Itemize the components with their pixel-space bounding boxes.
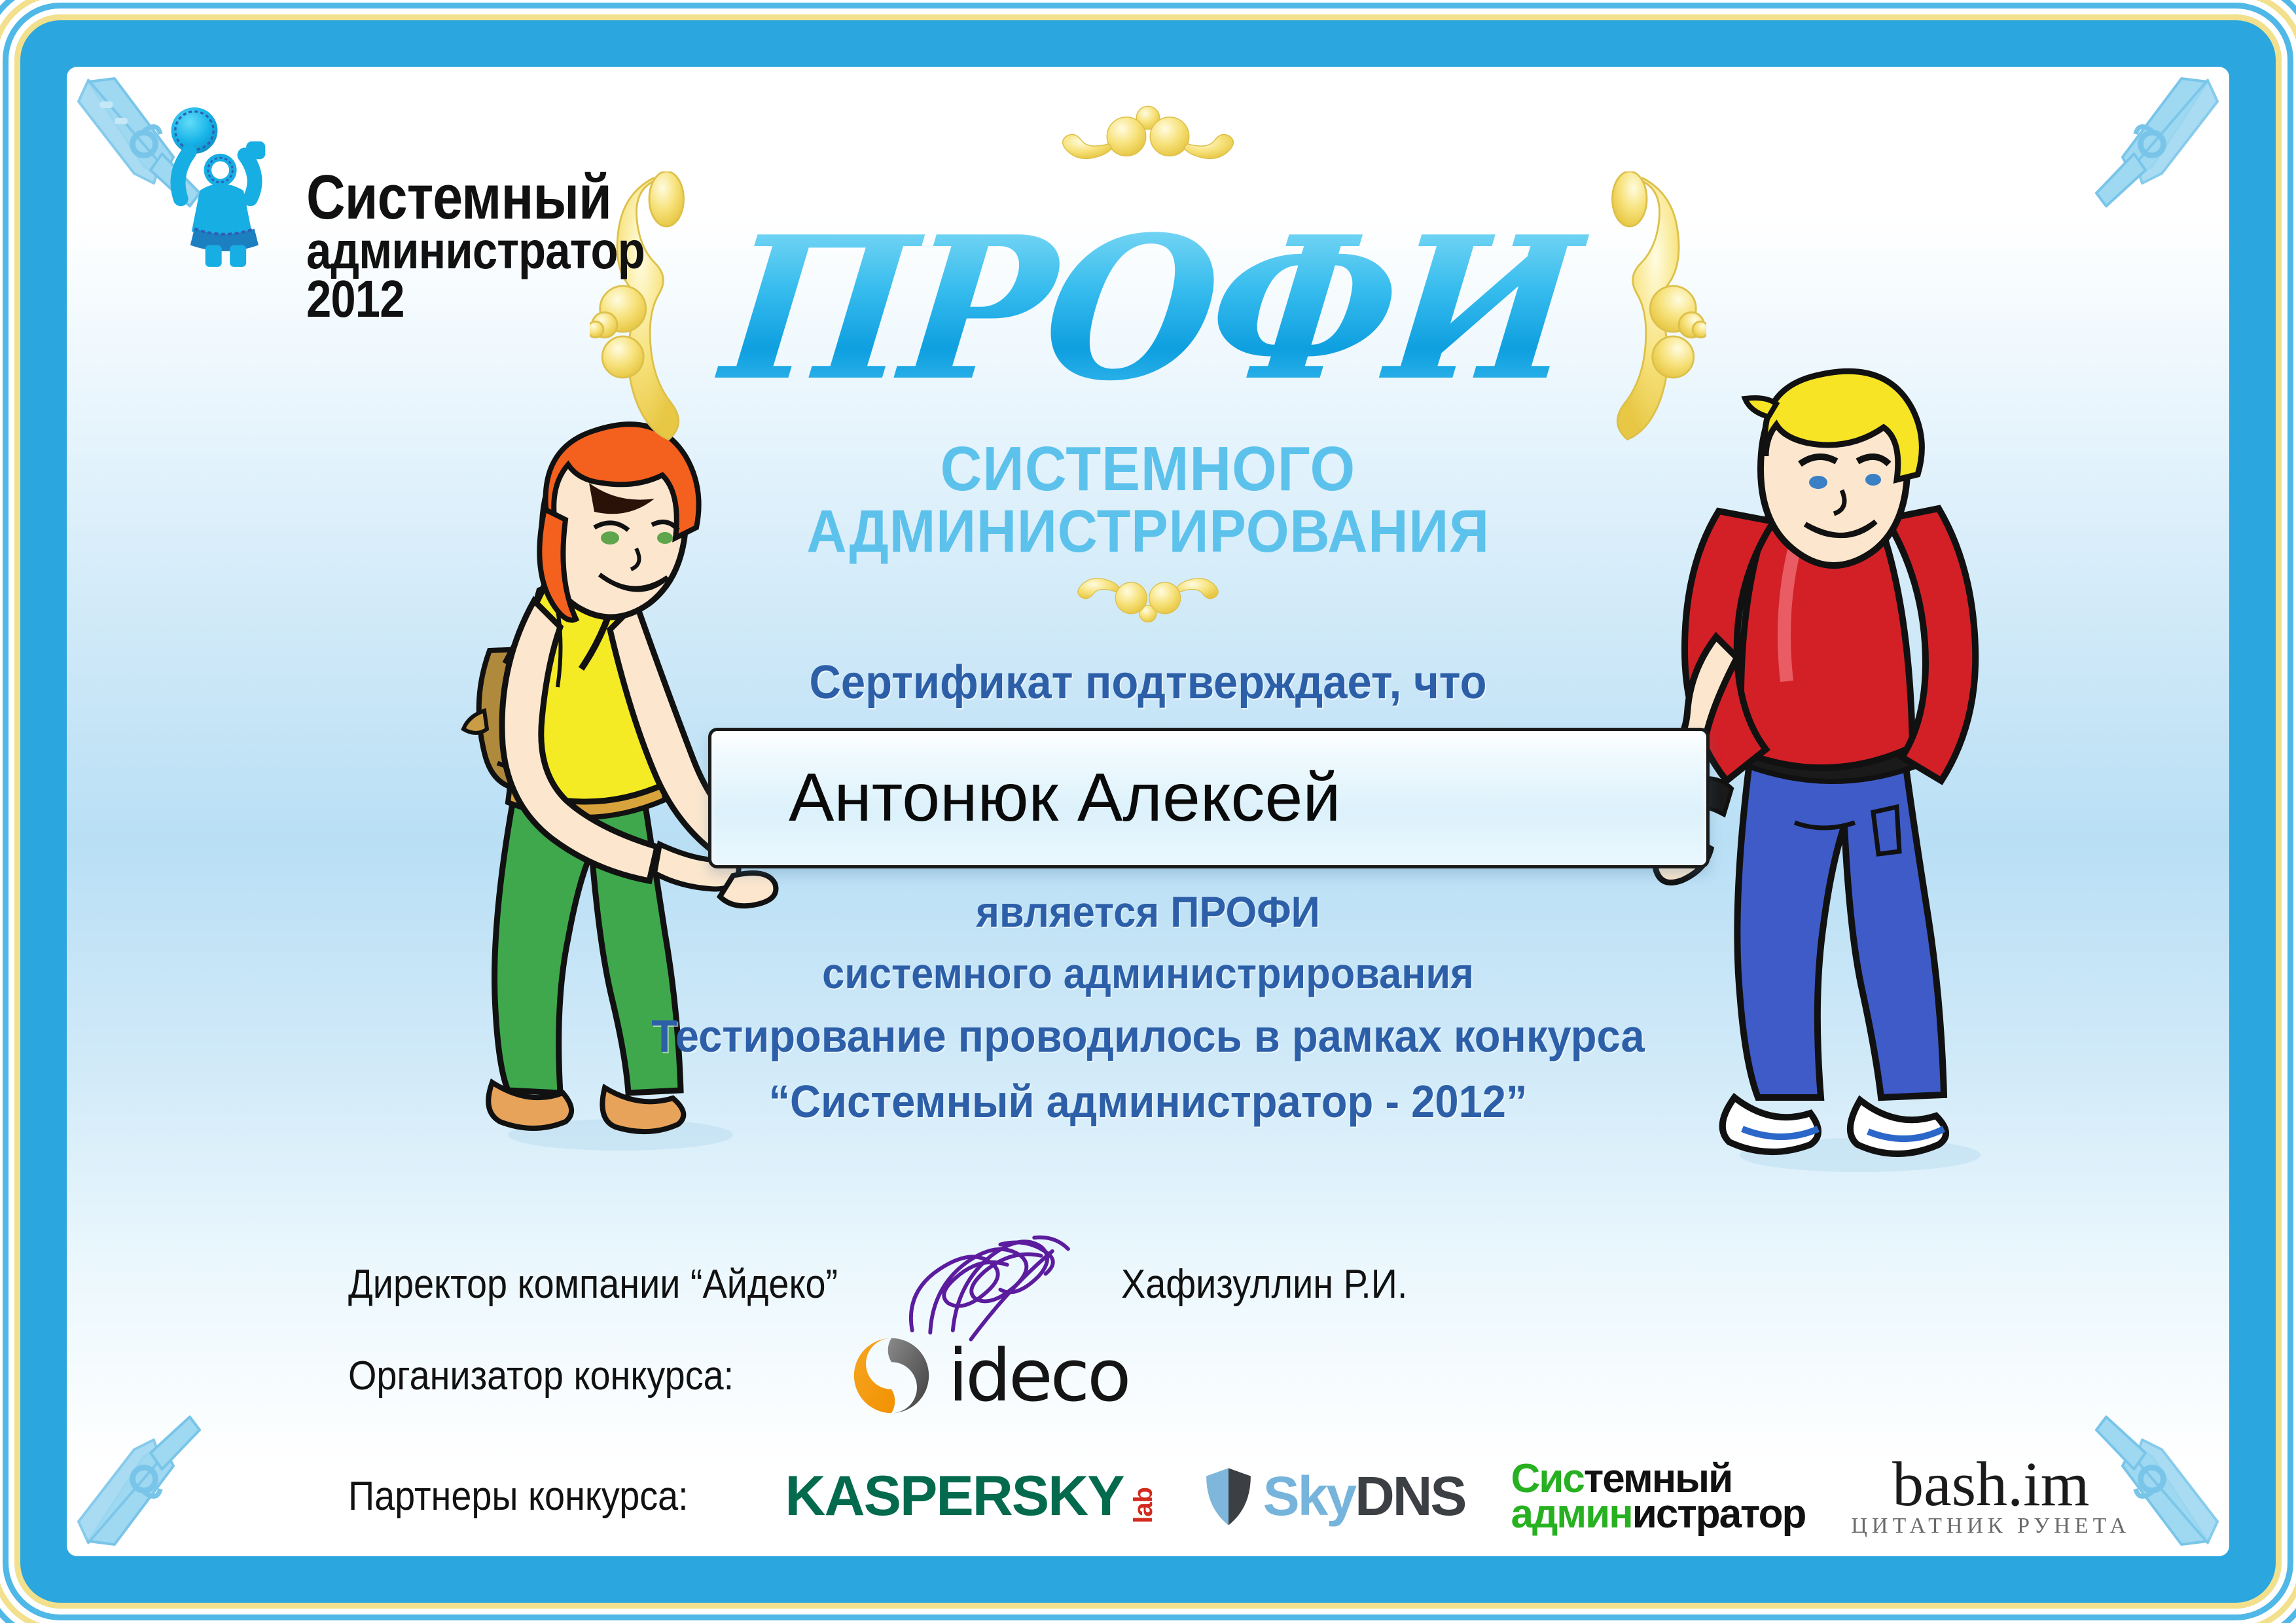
sysadmin-mascot-icon [158, 106, 296, 270]
sysadmin-partner-row2-black: истратор [1632, 1491, 1806, 1537]
sysadmin-partner-icon: Системный администратор [1511, 1461, 1805, 1531]
sysadmin-brand-logo: Системный администратор 2012 [158, 106, 700, 323]
signature-row: Директор компании “Айдеко” Хафизуллин Р.… [348, 1222, 1439, 1346]
golden-scroll-right-icon [1592, 171, 1706, 446]
bashim-logo-icon: bash.im ЦИТАТНИК РУНЕТА [1851, 1454, 2130, 1539]
certificate-outer-frame: Системный администратор 2012 [0, 0, 2296, 1623]
partner-logos: KASPERSKY lab SkyDNS Системный [785, 1454, 2130, 1539]
organizer-row: Организатор конкурса: ideco [348, 1333, 1128, 1418]
golden-flourish-icon [1040, 103, 1256, 175]
certificate-body-text: является ПРОФИ системного администрирова… [143, 882, 2154, 1134]
partners-label: Партнеры конкурса: [348, 1473, 689, 1520]
ideco-wordmark: ideco [948, 1334, 1129, 1418]
bashim-wordmark: bash.im [1851, 1454, 2130, 1514]
certificate-body: Системный администратор 2012 [67, 67, 2229, 1556]
sysadmin-partner-row2: администратор [1511, 1497, 1805, 1531]
skydns-sky-text: Sky [1263, 1465, 1355, 1527]
recipient-name: Антонюк Алексей [711, 759, 1340, 837]
body-line-1: является ПРОФИ [143, 882, 2154, 943]
body-line-2: системного администрирования [143, 943, 2154, 1005]
recipient-name-panel: Антонюк Алексей [708, 728, 1710, 868]
brand-logo-line1: Системный [306, 169, 645, 226]
body-line-3: Тестирование проводилось в рамках конкур… [143, 1004, 2154, 1069]
kaspersky-lab-suffix: lab [1129, 1488, 1158, 1524]
organizer-label: Организатор конкурса: [348, 1353, 734, 1399]
ideco-logo: ideco [849, 1333, 1129, 1418]
golden-flourish-icon [1056, 567, 1240, 627]
pliers-ornament-icon [72, 1387, 236, 1551]
sysadmin-partner-row2-green: админ [1511, 1491, 1632, 1537]
signature-title: Директор компании “Айдеко” [348, 1261, 838, 1308]
ideco-ring-icon [849, 1333, 934, 1418]
brand-logo-line2: администратор [306, 226, 645, 275]
body-line-4: “Системный администратор - 2012” [143, 1069, 2154, 1134]
bashim-tagline: ЦИТАТНИК РУНЕТА [1851, 1514, 2130, 1539]
kaspersky-logo-icon: KASPERSKY lab [785, 1464, 1158, 1529]
profi-title: ПРОФИ [694, 219, 1601, 399]
certificate-statement: Сертификат подтверждает, что [143, 656, 2154, 709]
partners-row: Партнеры конкурса: KASPERSKY lab SkyDNS [348, 1454, 2130, 1539]
brand-logo-line3: 2012 [306, 275, 645, 323]
signer-name: Хафизуллин Р.И. [1121, 1261, 1407, 1308]
headline-subtitle-1: СИСТЕМНОГО [941, 437, 1356, 501]
skydns-shield-icon [1204, 1467, 1253, 1527]
profi-title-row: ПРОФИ [590, 171, 1706, 446]
kaspersky-wordmark: KASPERSKY [785, 1464, 1123, 1529]
headline-subtitle-2: АДМИНИСТРИРОВАНИЯ [806, 501, 1490, 563]
signature-scribble-icon [886, 1222, 1102, 1346]
skydns-logo: SkyDNS [1204, 1465, 1465, 1528]
skydns-wordmark: SkyDNS [1263, 1465, 1465, 1528]
skydns-dns-text: DNS [1355, 1465, 1465, 1527]
